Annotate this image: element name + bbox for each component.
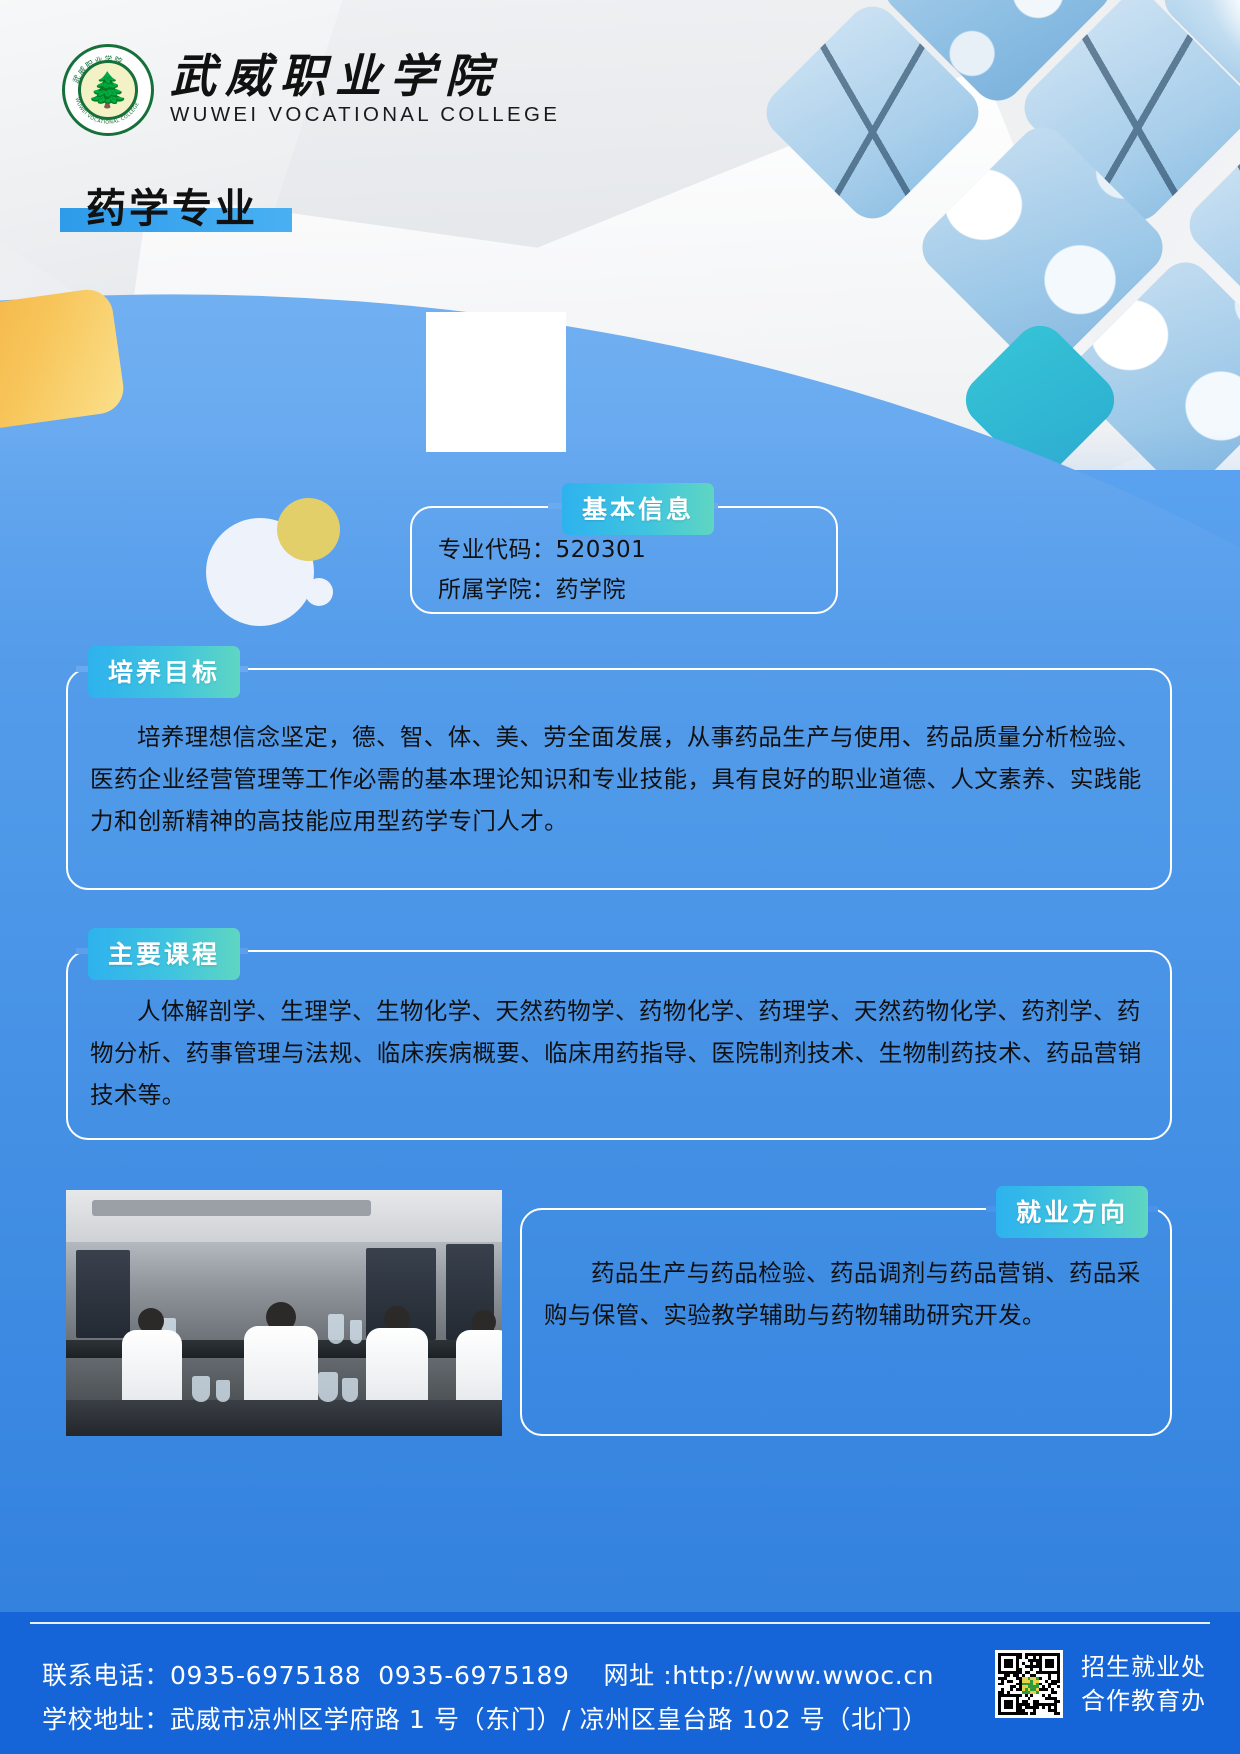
goal-text: 培养理想信念坚定，德、智、体、美、劳全面发展，从事药品生产与使用、药品质量分析检… <box>90 716 1148 842</box>
courses-badge: 主要课程 <box>88 928 240 980</box>
lab-ceiling <box>66 1190 502 1242</box>
footer-phone-line: 联系电话：0935-6975188 0935-6975189网址 :http:/… <box>42 1654 934 1698</box>
website-url[interactable]: http://www.wwoc.cn <box>672 1661 934 1690</box>
lab-glassware <box>350 1320 362 1344</box>
page-title: 药学专业 <box>86 176 258 234</box>
footer: 联系电话：0935-6975188 0935-6975189网址 :http:/… <box>0 1612 1240 1754</box>
footer-divider <box>30 1622 1210 1624</box>
phone-2: 0935-6975189 <box>378 1661 569 1690</box>
major-title-text: 药学专业 <box>86 176 258 234</box>
website-label: 网址 : <box>603 1661 672 1690</box>
address-value: 武威市凉州区学府路 1 号（东门）/ 凉州区皇台路 102 号（北门） <box>170 1705 928 1734</box>
goal-panel: 培养理想信念坚定，德、智、体、美、劳全面发展，从事药品生产与使用、药品质量分析检… <box>66 668 1172 890</box>
address-label: 学校地址： <box>42 1705 170 1734</box>
seal-arc-text: 武威职业学院 WUWEI VOCATIONAL COLLEGE <box>65 47 151 133</box>
college-seal-icon: 🌲 武威职业学院 WUWEI VOCATIONAL COLLEGE <box>62 44 154 136</box>
qr-footer-grid <box>998 1653 1060 1715</box>
footer-contact-block: 联系电话：0935-6975188 0935-6975189网址 :http:/… <box>42 1654 934 1742</box>
college-name-block: 武威职业学院 WUWEI VOCATIONAL COLLEGE <box>170 53 560 127</box>
lab-glassware <box>192 1376 210 1402</box>
lab-glassware <box>216 1380 230 1402</box>
lab-cabinet <box>76 1250 130 1338</box>
dept-line-2: 合作教育办 <box>1081 1684 1206 1718</box>
phone-1: 0935-6975188 <box>170 1661 361 1690</box>
courses-text: 人体解剖学、生理学、生物化学、天然药物学、药物化学、药理学、天然药物化学、药剂学… <box>90 990 1148 1116</box>
lab-duct <box>92 1200 371 1216</box>
college-logo: 🌲 武威职业学院 WUWEI VOCATIONAL COLLEGE 武威职业学院… <box>62 44 560 136</box>
college-name-en: WUWEI VOCATIONAL COLLEGE <box>170 103 560 127</box>
basic-info-row-code: 专业代码：520301 <box>438 530 646 564</box>
svg-text:武威职业学院: 武威职业学院 <box>70 54 124 85</box>
lab-photo <box>66 1190 502 1436</box>
college-name-cn: 武威职业学院 <box>170 53 560 101</box>
qr-hero-grid <box>431 317 561 447</box>
qr-code-icon[interactable] <box>995 1650 1063 1718</box>
lab-glassware <box>342 1378 358 1402</box>
lab-glassware <box>328 1314 344 1344</box>
dept-line-1: 招生就业处 <box>1081 1650 1206 1684</box>
basic-info-row-college: 所属学院：药学院 <box>438 570 626 604</box>
poster-root: 🌲 武威职业学院 WUWEI VOCATIONAL COLLEGE 武威职业学院… <box>0 0 1240 1754</box>
basic-info-badge: 基本信息 <box>562 483 714 535</box>
employment-badge: 就业方向 <box>996 1186 1148 1238</box>
footer-qr-block: 招生就业处 合作教育办 <box>995 1650 1206 1718</box>
footer-address-line: 学校地址：武威市凉州区学府路 1 号（东门）/ 凉州区皇台路 102 号（北门） <box>42 1698 934 1742</box>
svg-text:WUWEI VOCATIONAL COLLEGE: WUWEI VOCATIONAL COLLEGE <box>73 97 140 126</box>
footer-department: 招生就业处 合作教育办 <box>1081 1650 1206 1718</box>
lab-glassware <box>318 1372 338 1402</box>
lab-bench-front <box>66 1400 502 1436</box>
decorative-circle-yellow <box>277 498 340 561</box>
qr-code-icon[interactable] <box>426 312 566 452</box>
goal-badge: 培养目标 <box>88 646 240 698</box>
phone-label: 联系电话： <box>42 1661 170 1690</box>
decorative-circle-small <box>305 578 333 606</box>
employment-panel: 就业方向 药品生产与药品检验、药品调剂与药品营销、药品采购与保管、实验教学辅助与… <box>520 1208 1172 1436</box>
employment-text: 药品生产与药品检验、药品调剂与药品营销、药品采购与保管、实验教学辅助与药物辅助研… <box>544 1252 1148 1336</box>
